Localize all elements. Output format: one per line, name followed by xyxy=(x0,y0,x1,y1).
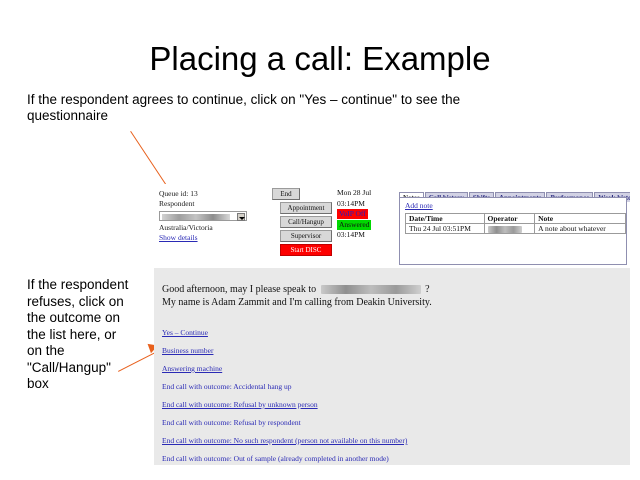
status-time-top: 03:14PM xyxy=(337,199,397,210)
add-note-link[interactable]: Add note xyxy=(405,201,433,210)
notes-table-header-row: Date/Time Operator Note xyxy=(406,214,626,224)
annotation-top-text: If the respondent agrees to continue, cl… xyxy=(27,92,477,124)
status-date: Mon 28 Jul xyxy=(337,188,397,199)
start-disc-button[interactable]: Start DISC xyxy=(280,244,332,256)
call-action-buttons: End Appointment Call/Hangup Supervisor S… xyxy=(272,188,334,258)
outcome-yes-continue[interactable]: Yes – Continue xyxy=(162,328,208,337)
respondent-name-redacted xyxy=(321,285,421,294)
outcome-refusal-respondent[interactable]: End call with outcome: Refusal by respon… xyxy=(162,418,301,427)
note-text: A note about whatever xyxy=(535,224,626,234)
notes-col-note: Note xyxy=(535,214,626,224)
notes-col-operator: Operator xyxy=(484,214,535,224)
script-line-1-suffix: ? xyxy=(425,284,429,295)
chevron-down-icon[interactable] xyxy=(237,213,245,221)
outcome-accidental-hangup[interactable]: End call with outcome: Accidental hang u… xyxy=(162,382,292,391)
outcome-business-number[interactable]: Business number xyxy=(162,346,213,355)
note-operator xyxy=(484,224,535,234)
respondent-label: Respondent xyxy=(159,199,255,209)
call-hangup-button[interactable]: Call/Hangup xyxy=(280,216,332,228)
app-top-bar: Queue id: 13 Respondent Australia/Victor… xyxy=(154,184,630,268)
respondent-info-block: Queue id: 13 Respondent Australia/Victor… xyxy=(159,189,255,243)
supervisor-button[interactable]: Supervisor xyxy=(280,230,332,242)
show-details-link[interactable]: Show details xyxy=(159,233,255,243)
answered-status-badge: Answered xyxy=(337,220,371,230)
status-time-bottom: 03:14PM xyxy=(337,230,397,241)
outcome-refusal-unknown[interactable]: End call with outcome: Refusal by unknow… xyxy=(162,400,318,409)
call-status-block: Mon 28 Jul 03:14PM VoIP Off Answered 03:… xyxy=(337,188,397,241)
queue-id-label: Queue id: 13 xyxy=(159,189,255,199)
voip-status-badge: VoIP Off xyxy=(337,209,368,219)
slide-root: Placing a call: Example If the responden… xyxy=(0,0,640,480)
outcome-out-of-sample[interactable]: End call with outcome: Out of sample (al… xyxy=(162,454,389,463)
detail-tab-panel: NotesCall historyShiftsAppointmentsPerfo… xyxy=(399,187,627,265)
page-title: Placing a call: Example xyxy=(0,40,640,78)
script-line-2: My name is Adam Zammit and I'm calling f… xyxy=(162,297,432,308)
script-line-1-text: Good afternoon, may I please speak to xyxy=(162,284,316,295)
operator-redacted xyxy=(488,226,522,233)
notes-col-datetime: Date/Time xyxy=(406,214,485,224)
table-row: Thu 24 Jul 03:51PM A note about whatever xyxy=(406,224,626,234)
end-button[interactable]: End xyxy=(272,188,300,200)
timezone-label: Australia/Victoria xyxy=(159,223,255,233)
note-datetime: Thu 24 Jul 03:51PM xyxy=(406,224,485,234)
call-script-area: Good afternoon, may I please speak to ? … xyxy=(154,284,630,465)
appointment-button[interactable]: Appointment xyxy=(280,202,332,214)
annotation-left-text: If the respondent refuses, click on the … xyxy=(27,277,129,393)
outcome-answering-machine[interactable]: Answering machine xyxy=(162,364,222,373)
notes-table: Date/Time Operator Note Thu 24 Jul 03:51… xyxy=(405,213,626,234)
respondent-select[interactable] xyxy=(159,211,247,221)
script-line-1: Good afternoon, may I please speak to ? xyxy=(162,284,430,295)
embedded-app-screenshot: Queue id: 13 Respondent Australia/Victor… xyxy=(154,184,630,465)
notes-tab-body: Add note Date/Time Operator Note Thu 24 … xyxy=(399,197,627,265)
respondent-value-redacted xyxy=(162,214,230,220)
outcome-no-such-respondent[interactable]: End call with outcome: No such responden… xyxy=(162,436,407,445)
